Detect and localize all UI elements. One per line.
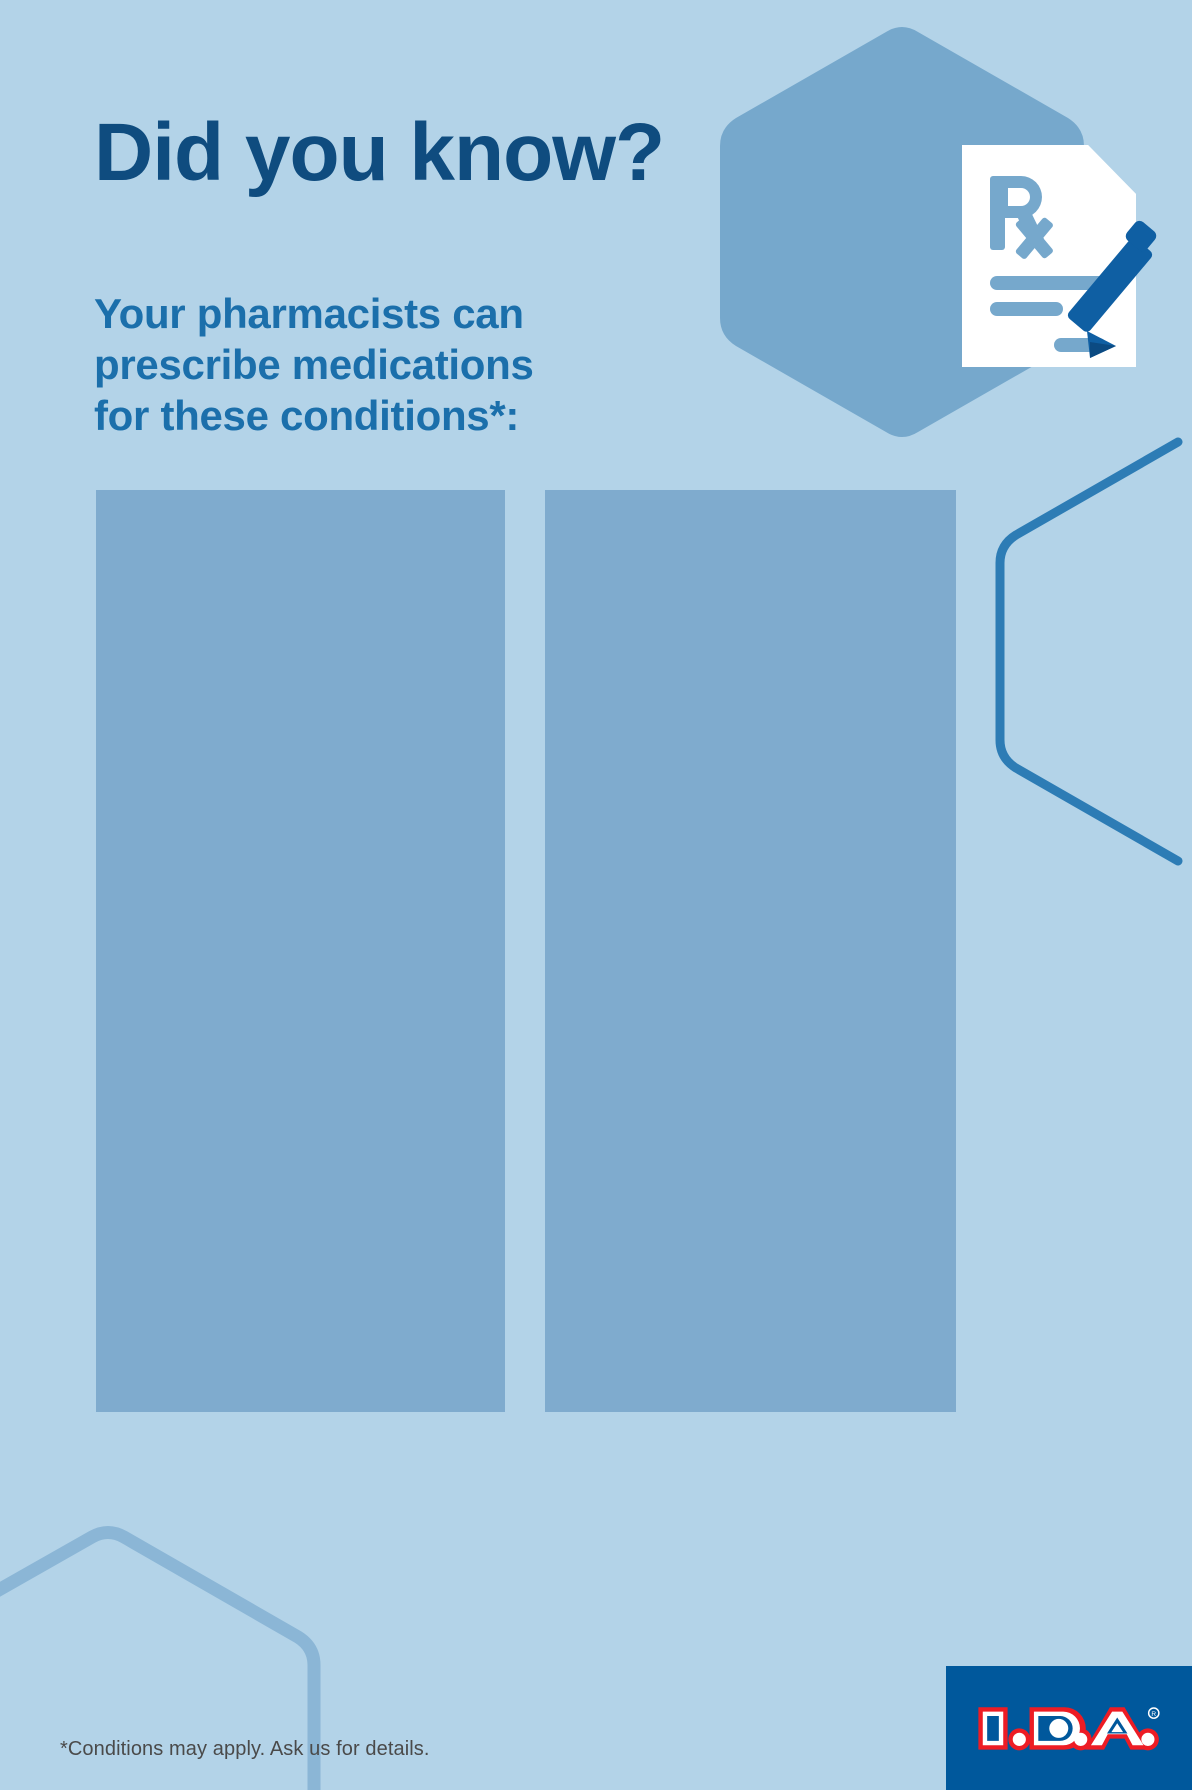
svg-text:R: R <box>1151 1711 1156 1718</box>
subheading-line-2: prescribe medications <box>94 339 534 390</box>
ida-logo: R <box>974 1697 1164 1760</box>
subheading-line-3: for these conditions*: <box>94 390 534 441</box>
ida-logo-plate: R <box>946 1666 1192 1790</box>
subheading: Your pharmacists can prescribe medicatio… <box>94 288 534 442</box>
conditions-column-left[interactable] <box>96 490 505 1412</box>
page-title: Did you know? <box>94 112 664 194</box>
conditions-column-right[interactable] <box>545 490 956 1412</box>
poster-canvas: Did you know? Your pharmacists can presc… <box>0 0 1192 1790</box>
document-rule-1 <box>990 276 1106 290</box>
subheading-line-1: Your pharmacists can <box>94 288 534 339</box>
document-rule-2 <box>990 302 1063 316</box>
footnote-disclaimer: *Conditions may apply. Ask us for detail… <box>60 1738 430 1761</box>
document-folded-corner <box>1088 145 1136 194</box>
hexagon-outline-right <box>1000 442 1178 861</box>
prescription-rx-document-icon <box>744 28 1192 448</box>
